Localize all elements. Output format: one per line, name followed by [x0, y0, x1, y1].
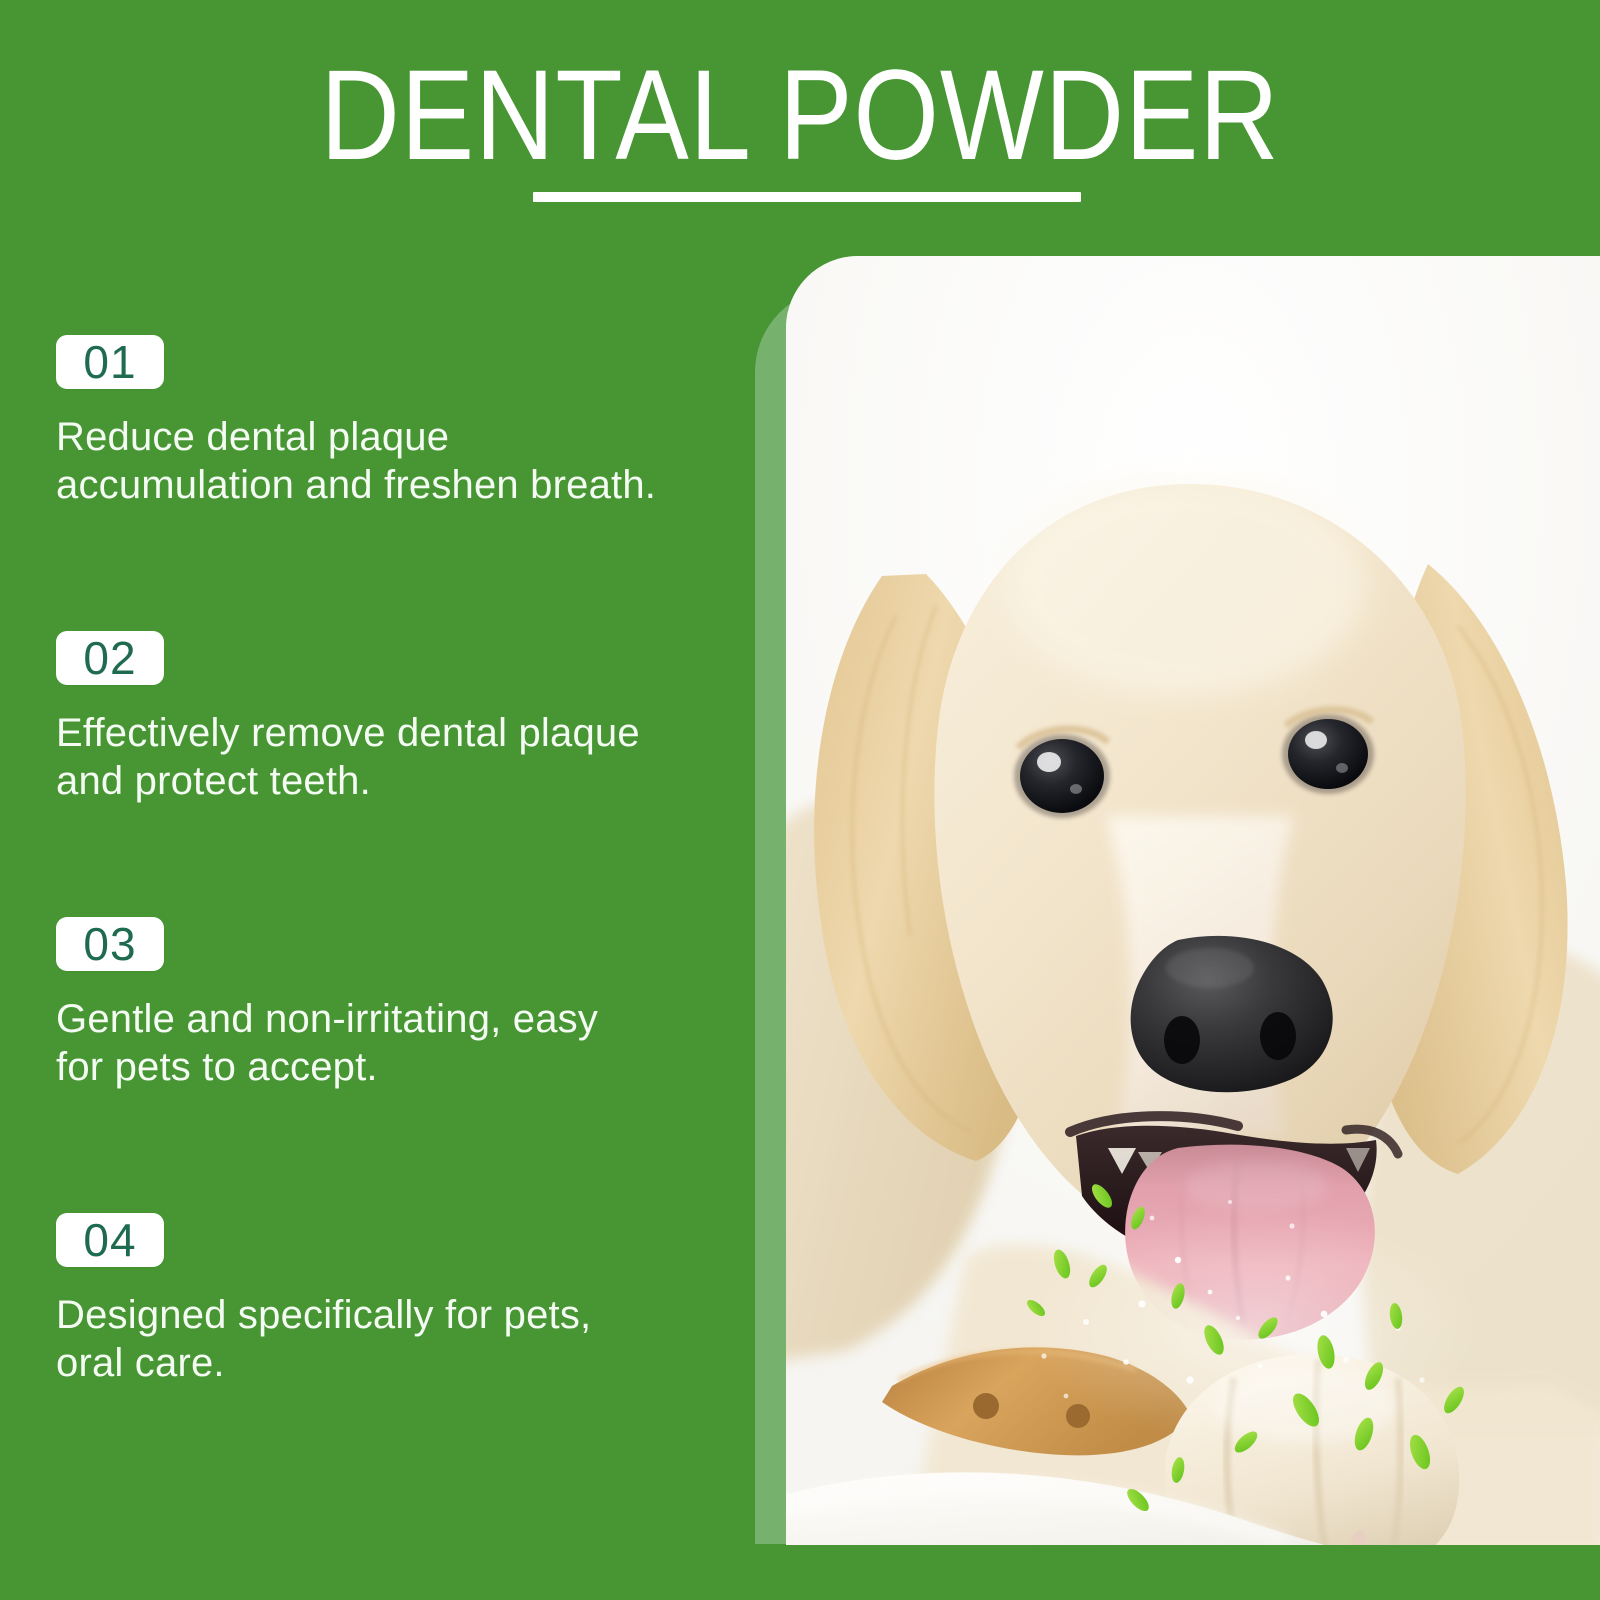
product-infographic-poster: DENTAL POWDER 01 Reduce dental plaque ac… — [0, 0, 1600, 1600]
feature-number-badge: 01 — [56, 335, 164, 389]
feature-number-badge: 02 — [56, 631, 164, 685]
feature-number: 01 — [56, 335, 164, 389]
feature-number-badge: 03 — [56, 917, 164, 971]
page-title: DENTAL POWDER — [112, 52, 1488, 180]
title-divider — [533, 192, 1081, 202]
list-item: 04 Designed specifically for pets, oral … — [56, 1213, 756, 1387]
feature-description: Gentle and non-irritating, easy for pets… — [56, 995, 746, 1091]
puppy-photo — [786, 256, 1600, 1545]
feature-description: Designed specifically for pets, oral car… — [56, 1291, 746, 1387]
feature-description: Reduce dental plaque accumulation and fr… — [56, 413, 746, 509]
list-item: 01 Reduce dental plaque accumulation and… — [56, 335, 756, 509]
list-item: 03 Gentle and non-irritating, easy for p… — [56, 917, 756, 1091]
poster-header: DENTAL POWDER — [0, 0, 1600, 230]
feature-number-badge: 04 — [56, 1213, 164, 1267]
feature-number: 03 — [56, 917, 164, 971]
feature-number: 04 — [56, 1213, 164, 1267]
feature-number: 02 — [56, 631, 164, 685]
product-photo-card — [786, 256, 1600, 1545]
list-item: 02 Effectively remove dental plaque and … — [56, 631, 756, 805]
feature-description: Effectively remove dental plaque and pro… — [56, 709, 746, 805]
